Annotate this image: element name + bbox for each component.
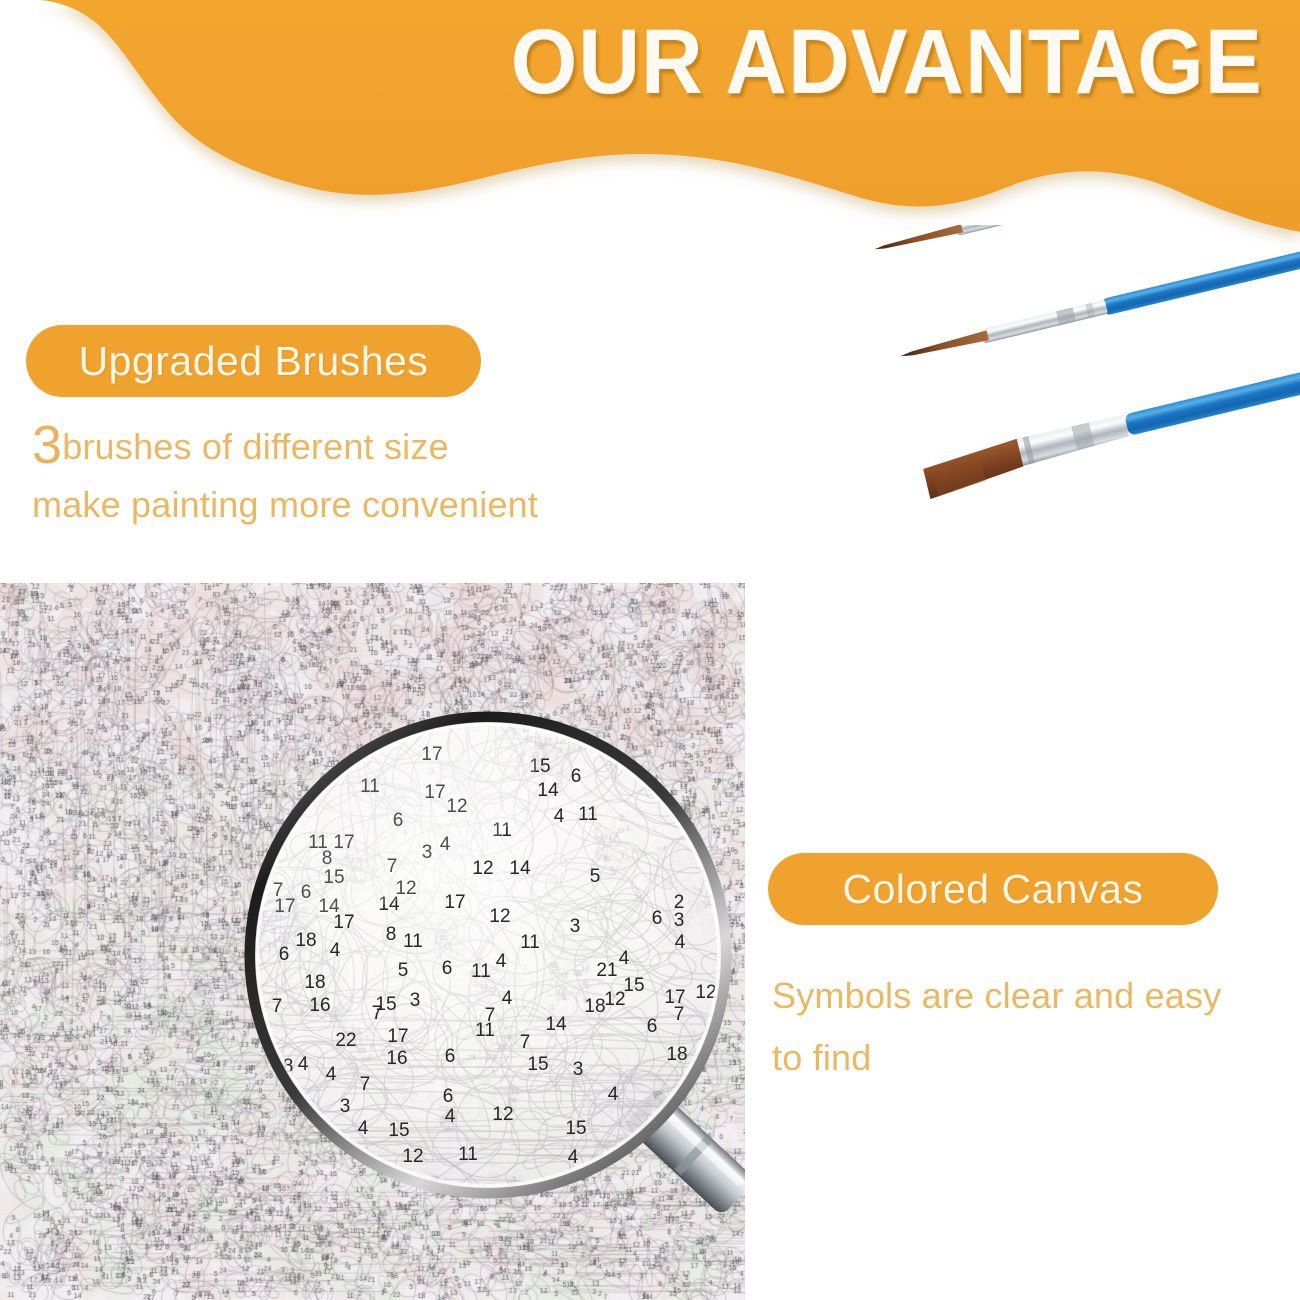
lens-number: 17 (387, 1026, 408, 1047)
colored-canvas-photo: 1715111712146611411111783471512145761221… (0, 583, 745, 1300)
lens-number: 15 (565, 1118, 586, 1139)
lens-number: 4 (358, 1118, 369, 1139)
lens-number: 6 (442, 958, 453, 979)
brush-2-ferrule-band (1056, 307, 1076, 325)
lens-number: 17 (444, 892, 465, 913)
lens-number: 5 (590, 866, 601, 887)
description-upgraded-brushes: 3brushes of different size make painting… (32, 418, 538, 534)
lens-number: 11 (403, 931, 423, 952)
lens-number: 7 (272, 996, 283, 1017)
lens-number: 6 (279, 944, 290, 965)
lens-number: 11 (520, 932, 540, 953)
lens-cell-outline (658, 715, 727, 783)
lens-number: 11 (475, 1020, 495, 1041)
lens-number: 12 (472, 858, 493, 879)
lens-number: 4 (326, 1064, 337, 1085)
lens-number: 4 (619, 948, 630, 969)
lens-number: 4 (675, 932, 686, 953)
lens-number: 18 (304, 972, 325, 993)
badge-colored-canvas: Colored Canvas (768, 853, 1218, 925)
lens-cell-outline (251, 1105, 311, 1164)
brush-1-fine-liner (873, 225, 1300, 257)
lens-number: 12 (604, 989, 625, 1010)
lens-number: 6 (647, 1016, 658, 1037)
lens-number: 6 (571, 766, 582, 787)
lens-number: 16 (309, 995, 330, 1016)
lens-number: 7 (674, 1004, 685, 1025)
lens-number: 5 (398, 960, 409, 981)
brush-2-handle (1101, 225, 1300, 316)
paintbrush-set-image (770, 225, 1300, 665)
lens-number: 3 (573, 1059, 584, 1080)
lens-number: 3 (410, 990, 421, 1011)
lens-number: 16 (386, 1048, 407, 1069)
lens-cell-outline (204, 1135, 298, 1216)
brush-copy-line-2: make painting more convenient (32, 476, 538, 534)
lens-number: 3 (674, 910, 685, 931)
brush-1-ferrule (955, 225, 1077, 236)
lens-cell-outline (667, 717, 727, 775)
lens-number: 14 (545, 1014, 567, 1035)
lens-number: 4 (502, 988, 513, 1009)
lens-number: 4 (496, 951, 507, 972)
page-title: OUR ADVANTAGE (91, 8, 1300, 117)
lens-number: 11 (471, 961, 491, 982)
lens-number: 18 (584, 996, 605, 1017)
lens-number: 4 (298, 1054, 309, 1075)
canvas-copy-line-1: Symbols are clear and easy (772, 965, 1221, 1027)
brush-2-bristles (899, 330, 989, 361)
badge-upgraded-brushes: Upgraded Brushes (26, 325, 481, 397)
lens-cell-outline (224, 662, 333, 800)
lens-number: 3 (340, 1096, 351, 1117)
lens-number: 6 (443, 1086, 454, 1107)
lens-number: 14 (537, 780, 559, 801)
lens-number: 18 (666, 1044, 687, 1065)
lens-number: 22 (335, 1030, 356, 1051)
lens-cell-outline (275, 1157, 332, 1214)
lens-number: 4 (568, 1147, 579, 1168)
lens-cell-outline (580, 1178, 624, 1218)
magnifying-glass-overlay: 1715111712146611411111783471512145761221… (0, 583, 745, 1300)
brush-copy-text-1: brushes of different size (62, 426, 449, 467)
lens-cell-outline (241, 725, 286, 781)
lens-cell-outline (712, 714, 745, 783)
lens-number: 6 (445, 1046, 456, 1067)
lens-cell-outline (650, 709, 719, 772)
lens-number: 7 (360, 1074, 371, 1095)
brush-copy-line-1: 3brushes of different size (32, 418, 538, 476)
lens-cell-outline (232, 1115, 300, 1175)
lens-number: 4 (330, 940, 341, 961)
brush-count-number: 3 (32, 415, 62, 475)
description-colored-canvas: Symbols are clear and easy to find (772, 965, 1221, 1089)
lens-number: 21 (596, 960, 617, 981)
lens-number: 7 (372, 1003, 383, 1024)
brush-1-bristles (874, 225, 963, 253)
lens-cell-outline (269, 1131, 314, 1177)
lens-number: 15 (527, 1054, 548, 1075)
lens-number: 12 (402, 1146, 423, 1167)
lens-cell-outline (654, 697, 715, 759)
lens-number: 7 (520, 1032, 531, 1053)
lens-number: 14 (509, 858, 531, 879)
lens-number: 18 (295, 930, 316, 951)
lens-cell-outline (644, 718, 745, 769)
lens-number: 12 (489, 906, 510, 927)
lens-number: 4 (608, 1084, 619, 1105)
brush-3-flat (921, 336, 1300, 499)
lens-cell-outline (204, 1109, 326, 1198)
canvas-copy-line-2: to find (772, 1027, 1221, 1089)
lens-number: 4 (445, 1106, 456, 1127)
lens-number: 15 (623, 975, 644, 996)
lens-number: 17 (333, 912, 354, 933)
lens-number: 6 (652, 908, 663, 929)
lens-number: 11 (458, 1144, 478, 1165)
lens-cell-outline (355, 1179, 397, 1213)
lens-number: 15 (388, 1120, 409, 1141)
lens-number: 4 (554, 806, 565, 827)
lens-number: 8 (386, 924, 397, 945)
lens-cell-outline (200, 1112, 303, 1257)
brush-3-handle (1124, 338, 1300, 436)
lens-number: 12 (492, 1104, 513, 1125)
lens-number: 3 (570, 916, 581, 937)
lens-number: 11 (578, 804, 598, 825)
brush-2-medium-liner (898, 225, 1300, 364)
